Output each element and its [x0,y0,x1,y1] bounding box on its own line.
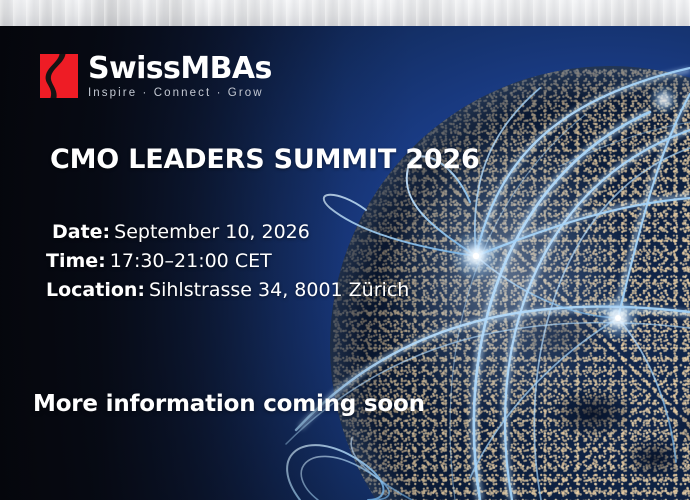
poster-content: SwissMBAs Inspire · Connect · Grow CMO L… [0,26,690,500]
date-label: Date: [52,221,110,243]
curtain-fold-texture [0,0,690,26]
top-curtain-strip [0,0,690,26]
date-value: September 10, 2026 [114,221,310,243]
location-value: Sihlstrasse 34, 8001 Zürich [149,279,409,301]
detail-row-location: Location:Sihlstrasse 34, 8001 Zürich [46,276,409,305]
coming-soon-note: More information coming soon [33,391,425,417]
time-value: 17:30–21:00 CET [110,250,272,272]
swissmbas-logo-mark-icon [40,54,78,98]
brand-text-lockup: SwissMBAs Inspire · Connect · Grow [88,54,272,100]
detail-row-time: Time:17:30–21:00 CET [46,247,409,276]
event-announcement-poster: SwissMBAs Inspire · Connect · Grow CMO L… [0,0,690,500]
event-details: Date:September 10, 2026 Time:17:30–21:00… [46,218,409,305]
brand-wordmark: SwissMBAs [88,54,272,84]
event-headline: CMO LEADERS SUMMIT 2026 [50,144,480,175]
time-label: Time: [46,250,106,272]
brand-tagline: Inspire · Connect · Grow [88,86,272,100]
detail-row-date: Date:September 10, 2026 [46,218,409,247]
brand-logo[interactable]: SwissMBAs Inspire · Connect · Grow [40,54,272,100]
location-label: Location: [46,279,145,301]
